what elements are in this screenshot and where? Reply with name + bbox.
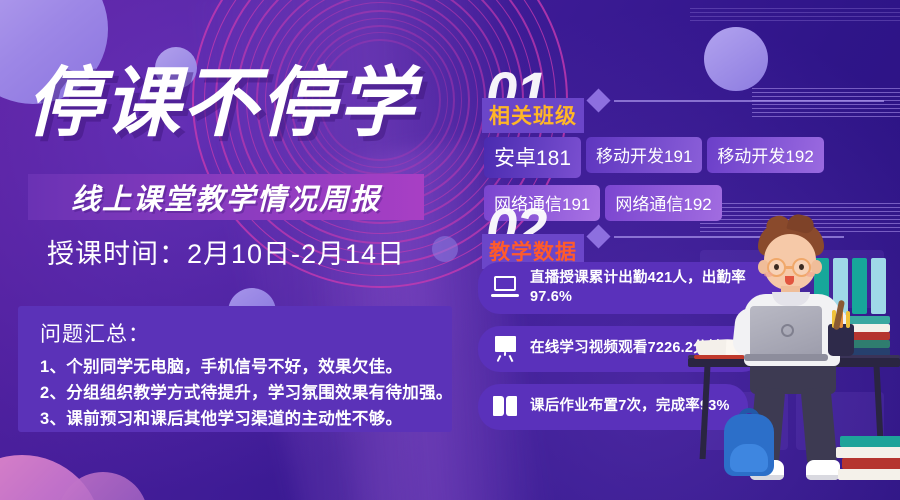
laptop-base bbox=[744, 354, 828, 361]
shoe-sole-right bbox=[806, 475, 840, 480]
eye-left bbox=[774, 264, 779, 270]
issues-list: 1、个别同学无电脑，手机信号不好，效果欠佳。2、分组组织教学方式待提升，学习氛围… bbox=[40, 354, 432, 432]
issues-panel: 问题汇总： 1、个别同学无电脑，手机信号不好，效果欠佳。2、分组组织教学方式待提… bbox=[18, 306, 452, 432]
diamond-marker-icon bbox=[586, 224, 610, 248]
diamond-marker-icon bbox=[586, 88, 610, 112]
pen-holder bbox=[828, 324, 854, 356]
class-tag[interactable]: 安卓181 bbox=[484, 137, 581, 178]
section-01-label: 相关班级 bbox=[482, 98, 584, 133]
floor-book bbox=[836, 447, 900, 458]
subtitle-text: 线上课堂教学情况周报 bbox=[71, 176, 381, 218]
desk-leg-left bbox=[700, 367, 711, 459]
student-illustration bbox=[688, 212, 900, 500]
floor-book bbox=[842, 458, 900, 469]
leg-right bbox=[801, 387, 838, 467]
glasses-bridge bbox=[785, 266, 794, 269]
date-range-text: 授课时间：2月10日-2月14日 bbox=[28, 232, 424, 271]
class-tag[interactable]: 移动开发191 bbox=[586, 137, 702, 173]
issue-list-item: 3、课前预习和课后其他学习渠道的主动性不够。 bbox=[40, 406, 432, 432]
poster-canvas: 停课不停学 线上课堂教学情况周报 授课时间：2月10日-2月14日 问题汇总： … bbox=[0, 0, 900, 500]
open-book-icon bbox=[492, 394, 520, 420]
eye-right bbox=[799, 264, 804, 270]
cheek-left bbox=[764, 272, 773, 277]
floor-book bbox=[838, 469, 900, 480]
section-01-rule bbox=[614, 100, 884, 102]
page-title: 停课不停学 bbox=[26, 66, 446, 142]
issue-list-item: 1、个别同学无电脑，手机信号不好，效果欠佳。 bbox=[40, 354, 432, 380]
issues-title: 问题汇总： bbox=[40, 318, 432, 348]
whiteboard-icon bbox=[492, 336, 520, 362]
floor-book bbox=[840, 436, 900, 447]
backpack-flap bbox=[730, 444, 768, 472]
laptop-icon bbox=[492, 275, 520, 301]
mouth bbox=[785, 276, 794, 285]
cheek-right bbox=[806, 272, 815, 277]
issue-list-item: 2、分组组织教学方式待提升，学习氛围效果有待加强。 bbox=[40, 380, 432, 406]
class-tag[interactable]: 移动开发192 bbox=[707, 137, 823, 173]
left-column: 停课不停学 线上课堂教学情况周报 授课时间：2月10日-2月14日 问题汇总： … bbox=[0, 0, 470, 500]
subtitle-banner: 线上课堂教学情况周报 bbox=[28, 174, 424, 220]
laptop-logo bbox=[781, 324, 794, 337]
